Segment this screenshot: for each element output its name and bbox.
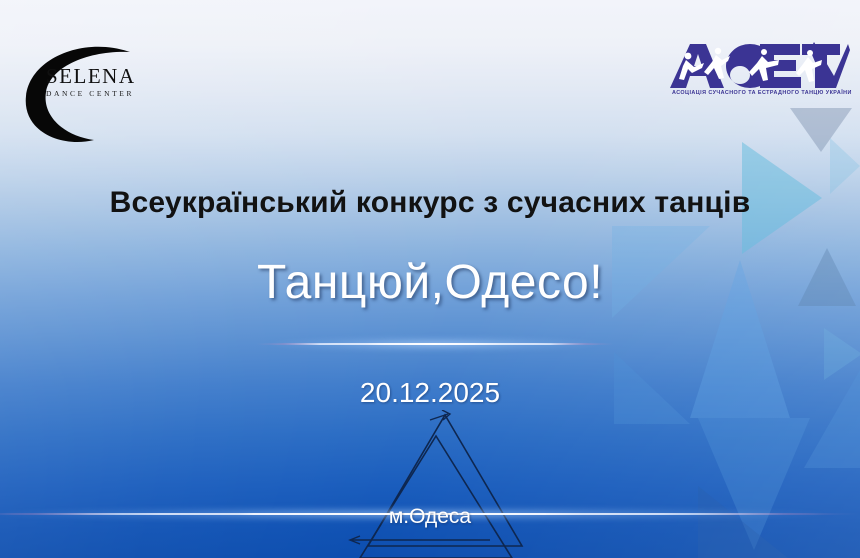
outline-triangles-decor xyxy=(330,410,560,558)
triangle-cyan-bottom-center xyxy=(698,418,810,550)
logo-asetu: АСОЦІАЦІЯ СУЧАСНОГО ТА ЕСТРАДНОГО ТАНЦЮ … xyxy=(664,36,850,108)
asetu-subtitle: АСОЦІАЦІЯ СУЧАСНОГО ТА ЕСТРАДНОГО ТАНЦЮ … xyxy=(672,90,852,96)
light-streak-title-divider xyxy=(255,336,615,352)
slide-date: 20.12.2025 xyxy=(0,377,860,409)
triangle-gray-top-right xyxy=(790,108,852,152)
selena-wordmark: SELENA xyxy=(46,66,136,87)
presentation-slide: SELENA DANCE CENTER xyxy=(0,0,860,558)
selena-tagline: DANCE CENTER xyxy=(46,89,136,98)
slide-city: м.Одеса xyxy=(0,505,860,529)
slide-title: Танцюй,Одесо! xyxy=(0,255,860,310)
triangle-cyan-far-right xyxy=(824,328,860,380)
slide-headline: Всеукраїнський конкурс з сучасних танців xyxy=(0,186,860,220)
asetu-dancers-icon xyxy=(664,36,850,96)
logo-selena-dance-center: SELENA DANCE CENTER xyxy=(12,30,172,145)
